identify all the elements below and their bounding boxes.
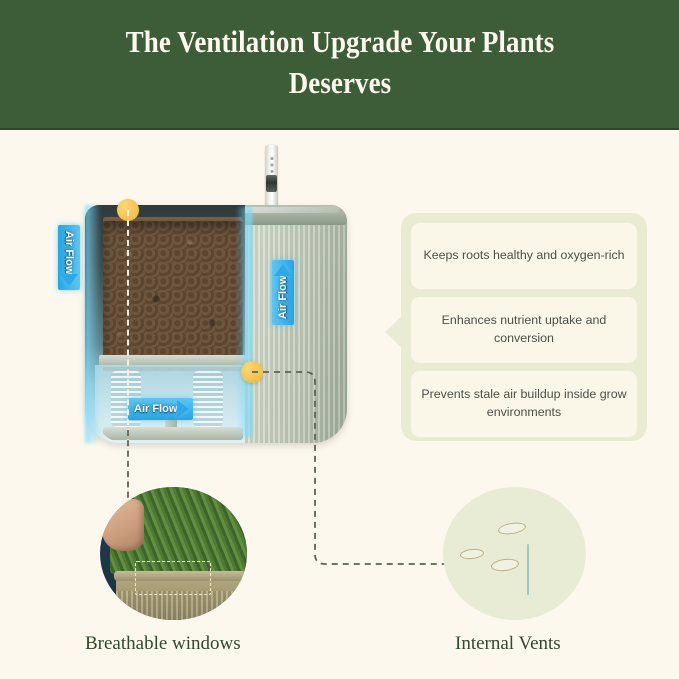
- internal-vents-illustration: [443, 487, 586, 620]
- benefit-text: Enhances nutrient uptake and conversion: [421, 312, 627, 348]
- vent-opening-icon: [460, 548, 485, 560]
- breathable-window-highlight: [135, 561, 211, 595]
- hand: [102, 499, 144, 551]
- benefit-text: Keeps roots healthy and oxygen-rich: [423, 247, 624, 265]
- benefit-card: Prevents stale air buildup inside grow e…: [411, 371, 637, 437]
- feature-label-internal-vents: Internal Vents: [455, 633, 561, 655]
- photo-planter-texture: [116, 591, 244, 620]
- infographic-root: The Ventilation Upgrade Your Plants Dese…: [0, 0, 679, 679]
- vent-divider-line: [527, 544, 529, 595]
- benefit-card: Enhances nutrient uptake and conversion: [411, 297, 637, 363]
- feature-label-breathable-windows: Breathable windows: [85, 633, 241, 655]
- breathable-windows-photo: [100, 487, 247, 620]
- benefits-callout: Keeps roots healthy and oxygen-rich Enha…: [401, 213, 647, 441]
- vent-opening-icon: [490, 557, 519, 572]
- benefit-card: Keeps roots healthy and oxygen-rich: [411, 223, 637, 289]
- vent-opening-icon: [497, 521, 526, 536]
- benefit-text: Prevents stale air buildup inside grow e…: [421, 386, 627, 422]
